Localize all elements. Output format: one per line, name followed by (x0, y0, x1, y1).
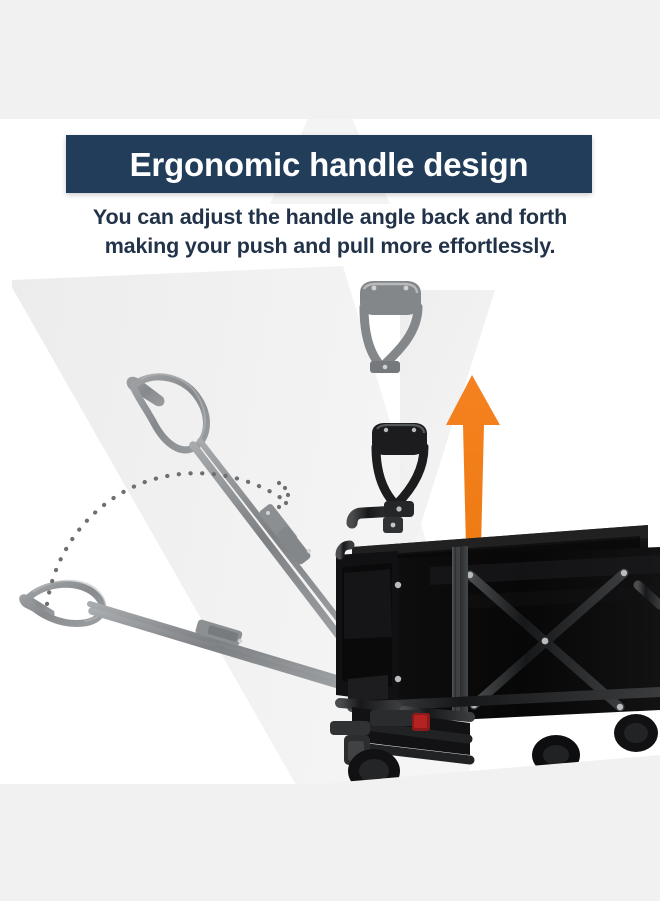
infographic-page: Ergonomic handle design You can adjust t… (0, 0, 660, 901)
subtitle: You can adjust the handle angle back and… (40, 203, 620, 260)
top-gray-band (0, 0, 660, 119)
page-title: Ergonomic handle design (130, 148, 529, 181)
handle-position-angled (127, 374, 360, 653)
arrow-up-icon (446, 375, 500, 560)
subtitle-line-1: You can adjust the handle angle back and… (93, 205, 567, 229)
title-banner: Ergonomic handle design (66, 135, 592, 193)
product-illustration (0, 255, 660, 800)
bottom-gray-band (0, 772, 660, 901)
wagon-body (336, 511, 660, 725)
